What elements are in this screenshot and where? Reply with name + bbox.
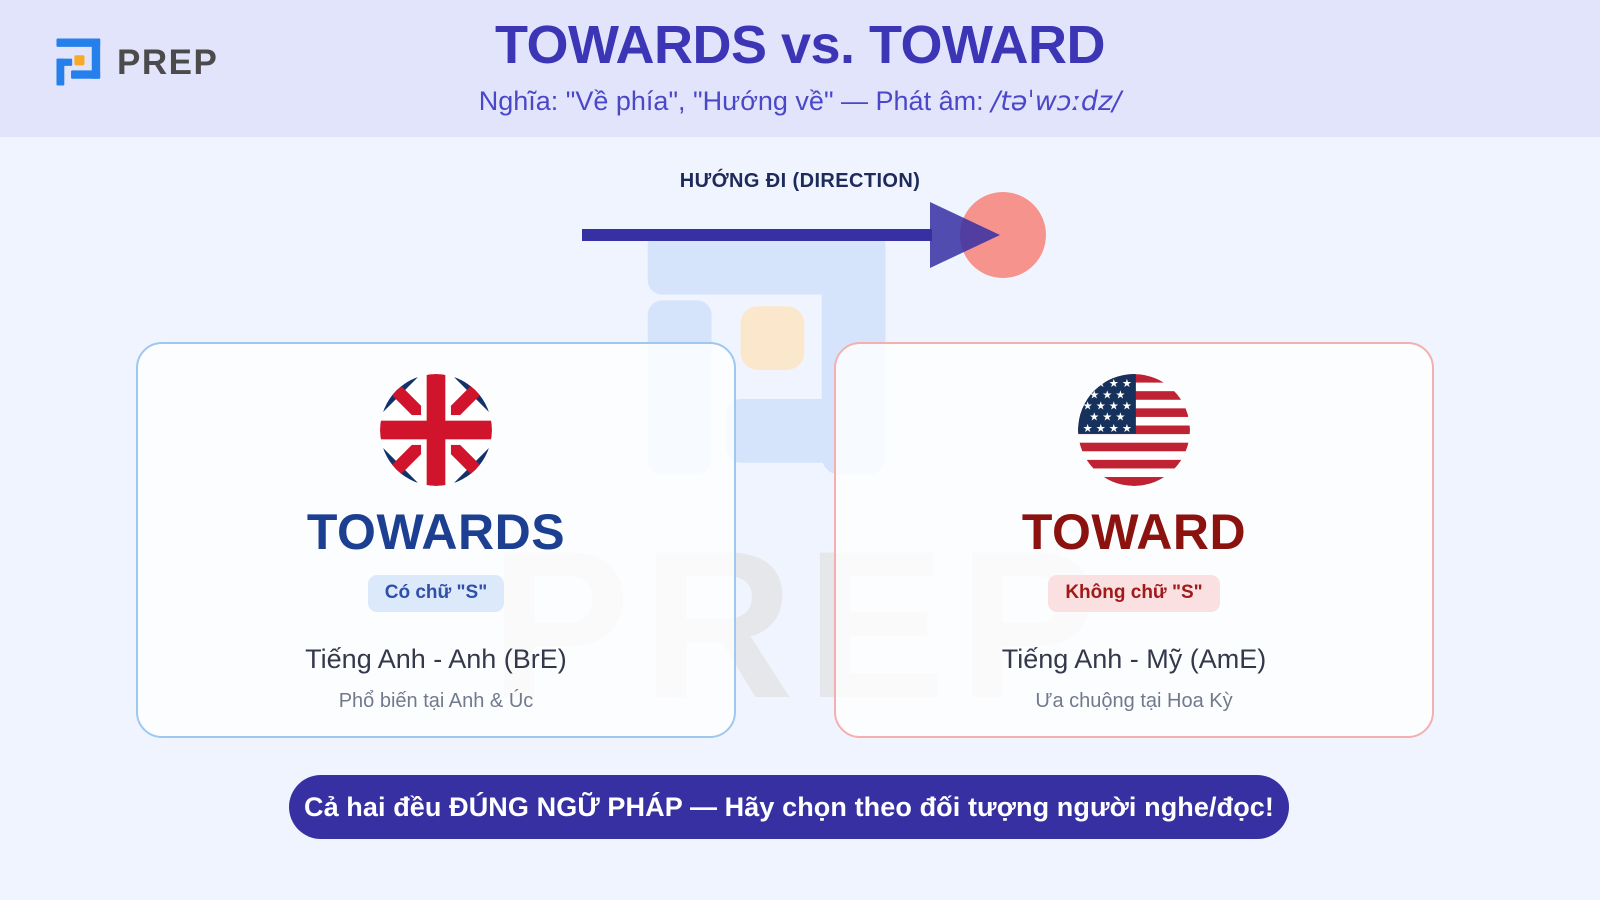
svg-text:★: ★ <box>1102 389 1112 401</box>
infographic-root: PREP PREP TOWARDS vs. TOWARD Nghĩa: <box>0 0 1600 900</box>
card-word-toward: TOWARD <box>836 506 1432 559</box>
card-towards[interactable]: TOWARDS Có chữ "S" Tiếng Anh - Anh (BrE)… <box>136 342 736 738</box>
badge-toward: Không chữ "S" <box>1048 575 1219 612</box>
variant-toward: Tiếng Anh - Mỹ (AmE) <box>836 643 1432 675</box>
direction-block: HƯỚNG ĐI (DIRECTION) <box>0 170 1600 280</box>
pronunciation-ipa: /təˈwɔːdz/ <box>991 86 1121 117</box>
svg-text:★: ★ <box>1115 389 1125 401</box>
note-towards: Phổ biến tại Anh & Úc <box>138 689 734 713</box>
svg-text:★: ★ <box>1083 378 1093 390</box>
page-header: PREP TOWARDS vs. TOWARD Nghĩa: "Về phía"… <box>0 0 1600 137</box>
page-subtitle: Nghĩa: "Về phía", "Hướng về" — Phát âm: … <box>0 85 1600 118</box>
note-toward: Ưa chuộng tại Hoa Kỳ <box>836 689 1432 713</box>
subtitle-meaning: Nghĩa: "Về phía", "Hướng về" — Phát âm: <box>479 86 991 116</box>
direction-label: HƯỚNG ĐI (DIRECTION) <box>0 170 1600 193</box>
svg-text:★: ★ <box>1089 389 1099 401</box>
uk-flag-icon <box>380 374 492 486</box>
header-titles: TOWARDS vs. TOWARD Nghĩa: "Về phía", "Hư… <box>0 0 1600 118</box>
direction-arrow-icon <box>560 192 1060 282</box>
variant-towards: Tiếng Anh - Anh (BrE) <box>138 643 734 675</box>
comparison-cards: TOWARDS Có chữ "S" Tiếng Anh - Anh (BrE)… <box>0 342 1600 738</box>
us-flag-icon: ★★★★ ★★★ ★★★★ ★★★ ★★★★ <box>1078 374 1190 486</box>
badge-towards: Có chữ "S" <box>368 575 505 612</box>
page-title: TOWARDS vs. TOWARD <box>0 14 1600 78</box>
card-toward[interactable]: ★★★★ ★★★ ★★★★ ★★★ ★★★★ TOWARD Không chữ … <box>834 342 1434 738</box>
card-word-towards: TOWARDS <box>138 506 734 559</box>
svg-text:★: ★ <box>1083 423 1093 435</box>
svg-text:★: ★ <box>1122 423 1132 435</box>
svg-text:★: ★ <box>1096 423 1106 435</box>
conclusion-text: Cả hai đều ĐÚNG NGỮ PHÁP — Hãy chọn theo… <box>304 794 1274 821</box>
conclusion-banner: Cả hai đều ĐÚNG NGỮ PHÁP — Hãy chọn theo… <box>289 775 1289 839</box>
svg-text:★: ★ <box>1109 423 1119 435</box>
